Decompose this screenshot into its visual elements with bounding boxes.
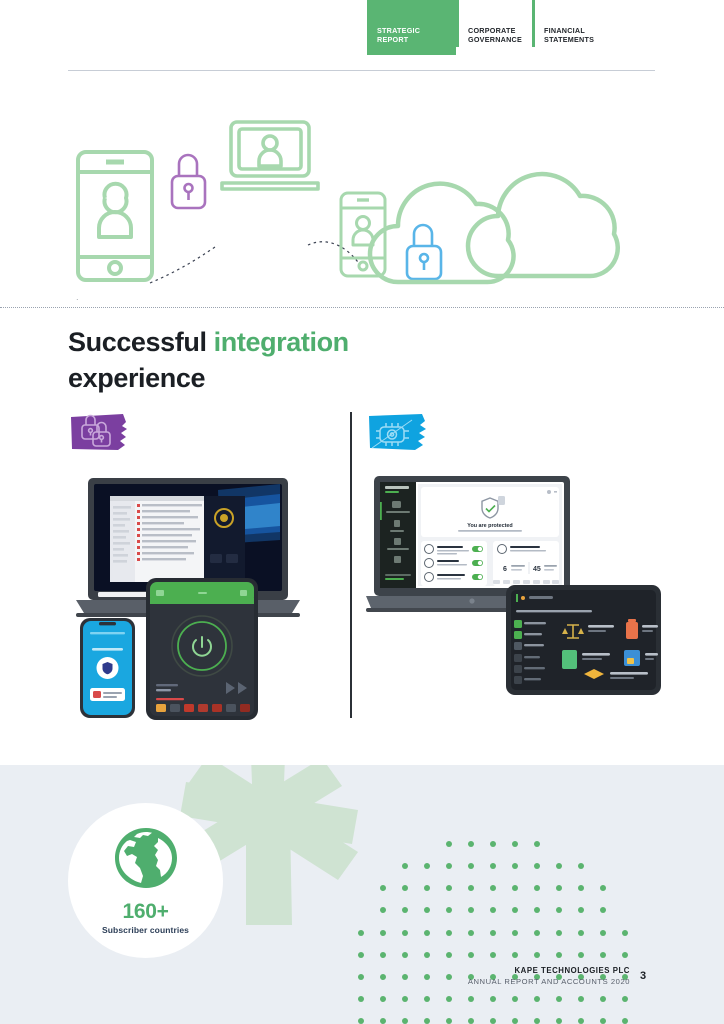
tab-strategic-report[interactable]: STRATEGIC REPORT [367, 0, 456, 55]
annual-report-page: STRATEGIC REPORT CORPORATE GOVERNANCE FI… [0, 0, 724, 1024]
smartphone-user-icon [78, 152, 152, 280]
smartphone-vpn-connected [80, 618, 135, 718]
svg-text:45: 45 [533, 566, 541, 573]
tab-corporate-governance[interactable]: CORPORATE GOVERNANCE [456, 0, 532, 55]
padlock-blue-icon [407, 225, 441, 279]
antivirus-status-title: You are protected [467, 523, 512, 529]
header-divider-rule [68, 70, 655, 71]
tablet-vpn-power-button [146, 578, 258, 720]
product-group-antivirus: You are protected [366, 412, 666, 724]
product-column-divider [350, 412, 352, 718]
stat-value: 160+ [122, 900, 168, 924]
stat-subscriber-countries: 160+ Subscriber countries [68, 803, 223, 958]
footer-report-title: ANNUAL REPORT AND ACCOUNTS 2020 [340, 977, 630, 986]
antivirus-chip-badge-icon [366, 412, 430, 452]
globe-icon [110, 826, 182, 895]
section-dotted-divider [0, 307, 724, 308]
laptop-user-icon [222, 122, 318, 189]
footer: KAPE TECHNOLOGIES PLC ANNUAL REPORT AND … [340, 966, 630, 986]
footer-company: KAPE TECHNOLOGIES PLC [340, 966, 630, 975]
tab-corporate-governance-label: CORPORATE GOVERNANCE [468, 26, 522, 45]
tab-separator-rule [456, 0, 459, 47]
stat-caption: Subscriber countries [102, 925, 189, 935]
tab-financial-statements-label: FINANCIAL STATEMENTS [544, 26, 594, 45]
vpn-device-mockups [68, 470, 336, 725]
svg-text:6: 6 [503, 566, 507, 573]
tablet-antivirus-tools [506, 585, 661, 695]
page-title-accent: integration [214, 327, 349, 357]
product-group-vpn [68, 412, 336, 724]
connected-devices-security-illustration [0, 95, 724, 300]
padlock-purple-icon [172, 155, 205, 208]
tab-strategic-report-label: STRATEGIC REPORT [377, 26, 420, 45]
page-title-part1: Successful [68, 327, 214, 357]
tab-financial-statements[interactable]: FINANCIAL STATEMENTS [532, 0, 604, 55]
section-nav-tabs: STRATEGIC REPORT CORPORATE GOVERNANCE FI… [367, 0, 604, 55]
padlock-vpn-badge-icon [68, 412, 132, 452]
page-title: Successful integration experience [68, 325, 488, 396]
tab-separator-rule [532, 0, 535, 47]
antivirus-device-mockups: You are protected [366, 470, 666, 725]
page-title-part2: experience [68, 363, 205, 393]
page-number: 3 [640, 970, 646, 982]
